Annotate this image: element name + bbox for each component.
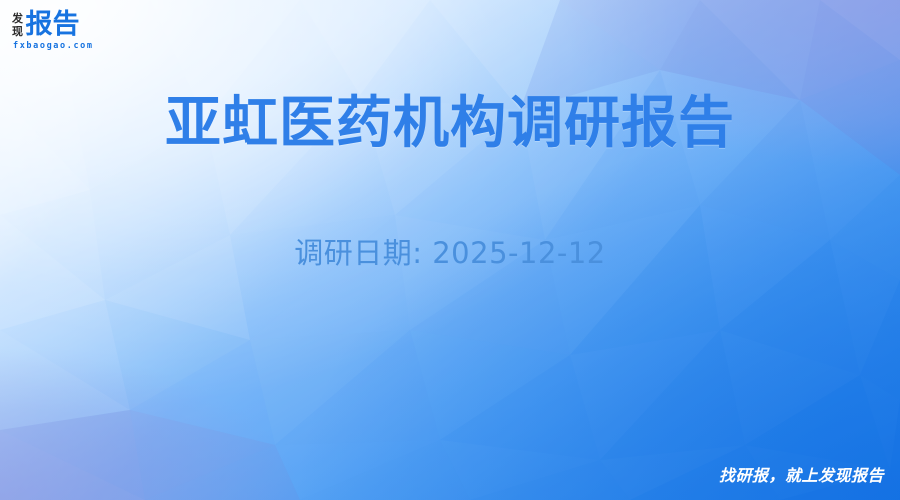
footer-slogan: 找研报，就上发现报告 [719,466,884,486]
logo-main-text: 报告 [26,11,80,39]
logo-url-text: fxbaogao.com [13,41,132,51]
page-title: 亚虹医药机构调研报告 [0,92,900,156]
survey-date-subtitle: 调研日期: 2025-12-12 [0,234,900,272]
logo-wordmark: 发 现 报告 [12,9,132,39]
site-logo[interactable]: 发 现 报告 fxbaogao.com [12,9,132,51]
logo-char-bottom: 现 [12,25,23,38]
report-cover-slide: 发 现 报告 fxbaogao.com 亚虹医药机构调研报告 调研日期: 202… [0,0,900,500]
logo-char-top: 发 [12,12,23,25]
logo-stacked-characters: 发 现 [12,12,23,39]
